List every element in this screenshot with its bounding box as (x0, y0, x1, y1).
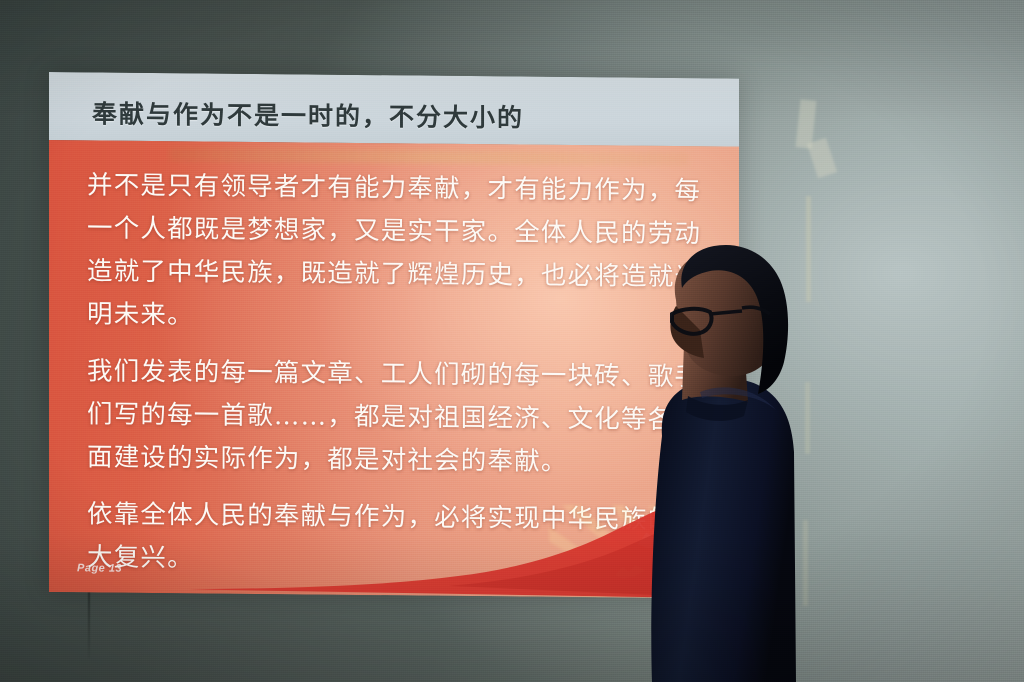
projected-slide: 奉献与作为不是一时的，不分大小的 并不是只有领导者才有能力奉献，才有能力作为，每… (49, 72, 739, 599)
wall-tape-residue (805, 382, 810, 454)
slide-page-label: Page 13 (77, 562, 122, 574)
slide-body: 并不是只有领导者才有能力奉献，才有能力作为，每一个人都既是梦想家，又是实干家。全… (49, 140, 739, 599)
slide-paragraph: 并不是只有领导者才有能力奉献，才有能力作为，每一个人都既是梦想家，又是实干家。全… (87, 164, 723, 342)
red-wave-decoration (49, 472, 739, 599)
wall-tape-residue (803, 520, 808, 606)
wall-tape-residue (806, 196, 811, 302)
slide-title: 奉献与作为不是一时的，不分大小的 (92, 94, 524, 134)
photo-scene: 奉献与作为不是一时的，不分大小的 并不是只有领导者才有能力奉献，才有能力作为，每… (0, 0, 1024, 682)
wall-seam-line (88, 592, 90, 658)
slide-paragraph: 我们发表的每一篇文章、工人们砌的每一块砖、歌手们写的每一首歌……，都是对祖国经济… (87, 350, 723, 485)
projector-hotspot (169, 147, 689, 166)
